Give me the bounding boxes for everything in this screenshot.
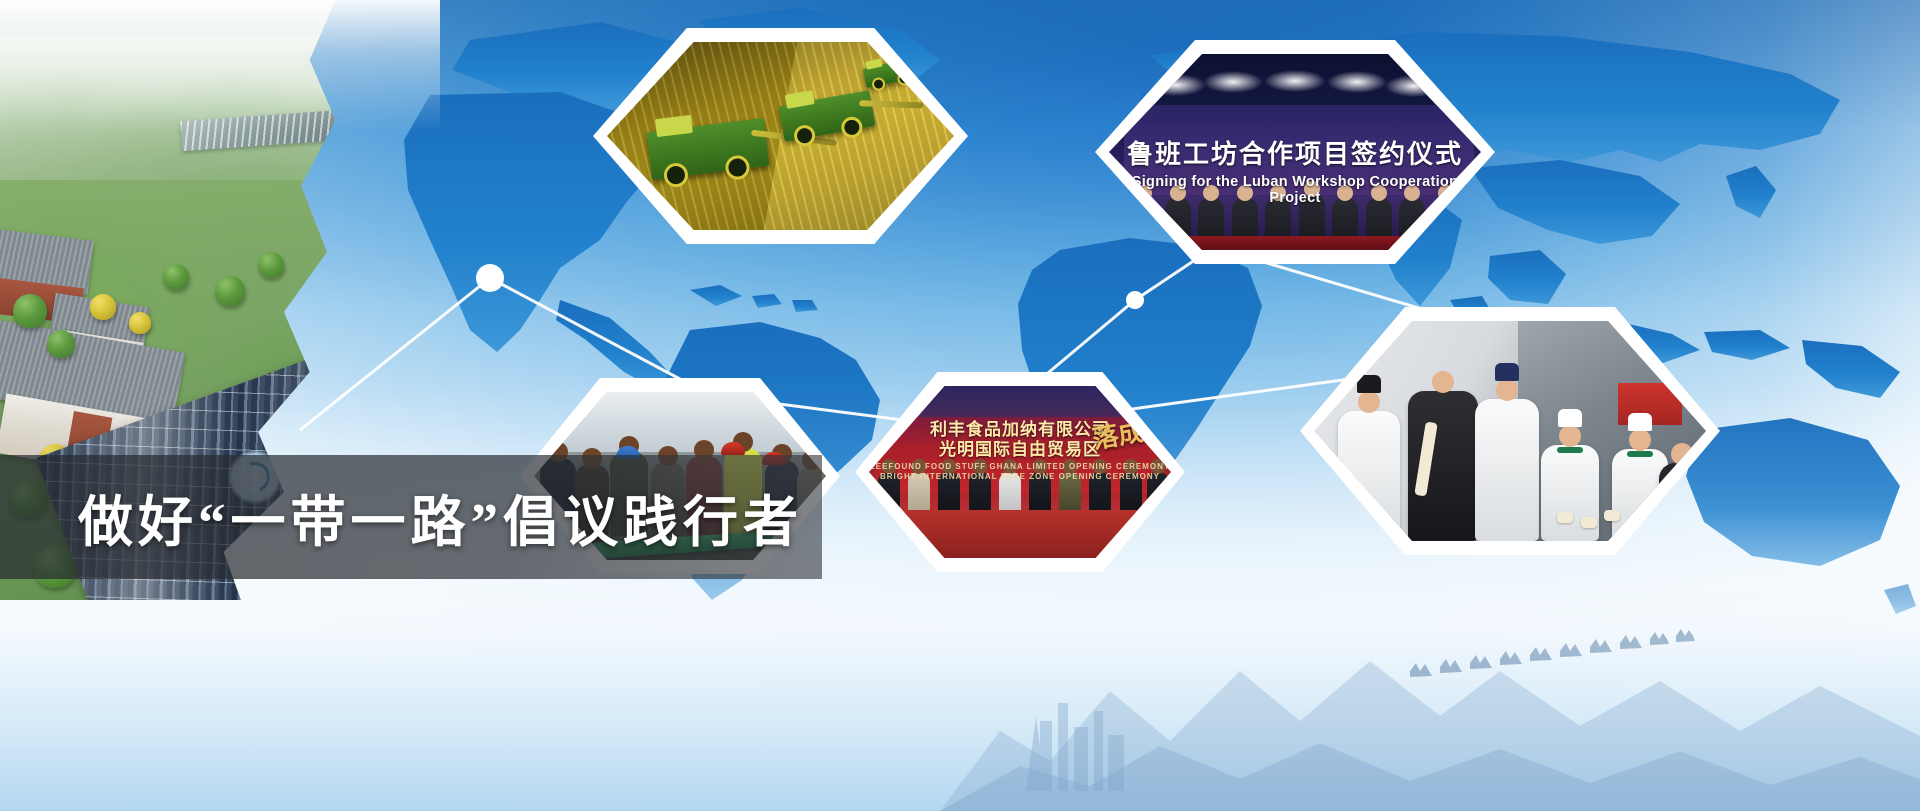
leefound-sub-line2: BRIGHT INTERNATIONAL FREE ZONE OPENING C…	[869, 472, 1171, 482]
tree-yellow	[129, 312, 151, 334]
title-banner: 做好“一带一路”倡议践行者	[0, 455, 822, 579]
leefound-sub-line1: LEEFOUND FOOD STUFF GHANA LIMITED OPENIN…	[869, 462, 1171, 472]
dough-piece	[1604, 510, 1620, 521]
banner-stage: 鲁班工坊合作项目签约仪式 Signing for the Luban Works…	[0, 0, 1920, 811]
hard-hat-red	[721, 442, 745, 455]
tree	[258, 252, 284, 278]
tree	[215, 276, 245, 306]
leefound-subtitle-en: LEEFOUND FOOD STUFF GHANA LIMITED OPENIN…	[869, 462, 1171, 482]
tree	[13, 294, 47, 328]
page-title: 做好“一带一路”倡议践行者	[0, 477, 803, 557]
tree	[47, 330, 75, 358]
silk-road-camel-caravan	[1410, 629, 1695, 677]
dough-piece	[1557, 512, 1573, 523]
tree-yellow	[90, 294, 116, 320]
dough-piece	[1581, 517, 1597, 528]
luban-caption-en: Signing for the Luban Workshop Cooperati…	[1109, 174, 1481, 206]
tree	[163, 264, 189, 290]
student-right	[1475, 399, 1539, 541]
luban-caption-cn: 鲁班工坊合作项目签约仪式	[1109, 140, 1481, 169]
